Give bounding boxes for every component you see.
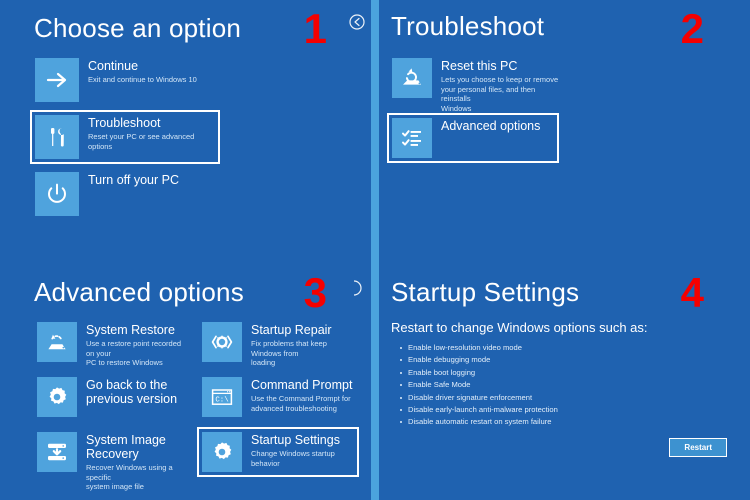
option-tile-go-back-previous-version[interactable]: Go back to the previous version bbox=[32, 372, 194, 422]
step-number-2: 2 bbox=[681, 8, 704, 50]
startup-repair-icon bbox=[202, 322, 242, 362]
power-icon bbox=[35, 172, 79, 216]
option-desc: Fix problems that keep Windows from load… bbox=[251, 339, 354, 368]
option-desc: Use a restore point recorded on your PC … bbox=[86, 339, 189, 368]
option-title: System Image Recovery bbox=[86, 433, 189, 461]
option-tile-startup-settings[interactable]: Startup Settings Change Windows startup … bbox=[197, 427, 359, 477]
option-desc: Change Windows startup behavior bbox=[251, 449, 354, 468]
page-title: Choose an option bbox=[34, 13, 241, 44]
panel-choose-an-option: 1 Choose an option Continue Exit and con… bbox=[0, 0, 371, 250]
list-item: Enable Safe Mode bbox=[399, 379, 558, 391]
screwdriver-wrench-icon bbox=[35, 115, 79, 159]
system-restore-icon bbox=[37, 322, 77, 362]
list-item: Enable debugging mode bbox=[399, 354, 558, 366]
system-image-recovery-icon bbox=[37, 432, 77, 472]
gear-icon bbox=[202, 432, 242, 472]
option-tile-turn-off-your-pc[interactable]: Turn off your PC bbox=[30, 167, 220, 221]
command-prompt-icon: C:\ bbox=[202, 377, 242, 417]
option-desc: Lets you choose to keep or remove your p… bbox=[441, 75, 562, 113]
option-title: Advanced options bbox=[441, 119, 540, 133]
recovery-screens-collage: 1 Choose an option Continue Exit and con… bbox=[0, 0, 750, 500]
list-item: Disable early-launch anti-malware protec… bbox=[399, 404, 558, 416]
step-number-1: 1 bbox=[304, 8, 327, 50]
svg-text:C:\: C:\ bbox=[215, 397, 229, 405]
option-title: Command Prompt bbox=[251, 378, 352, 392]
option-desc: Recover Windows using a specific system … bbox=[86, 463, 189, 492]
checklist-icon bbox=[392, 118, 432, 158]
option-tile-system-image-recovery[interactable]: System Image Recovery Recover Windows us… bbox=[32, 427, 194, 497]
option-desc: Reset your PC or see advanced options bbox=[88, 132, 215, 151]
list-item: Enable low-resolution video mode bbox=[399, 342, 558, 354]
startup-options-list: Enable low-resolution video mode Enable … bbox=[399, 342, 558, 429]
step-number-4: 4 bbox=[681, 272, 704, 314]
option-tile-troubleshoot[interactable]: Troubleshoot Reset your PC or see advanc… bbox=[30, 110, 220, 164]
startup-settings-subhead: Restart to change Windows options such a… bbox=[391, 320, 648, 335]
option-tile-advanced-options[interactable]: Advanced options bbox=[387, 113, 559, 163]
option-tile-reset-this-pc[interactable]: Reset this PC Lets you choose to keep or… bbox=[387, 53, 567, 118]
back-arrow-circle-icon[interactable] bbox=[349, 14, 365, 30]
option-title: Startup Settings bbox=[251, 433, 354, 447]
option-title: Reset this PC bbox=[441, 59, 562, 73]
panel-advanced-options: 3 Advanced options Syst bbox=[0, 250, 371, 500]
option-title: Go back to the previous version bbox=[86, 378, 177, 406]
option-tile-continue[interactable]: Continue Exit and continue to Windows 10 bbox=[30, 53, 220, 107]
page-title: Startup Settings bbox=[391, 277, 579, 308]
page-title: Troubleshoot bbox=[391, 11, 544, 42]
panel-troubleshoot: 2 Troubleshoot Reset this PC Lets you ch… bbox=[379, 0, 750, 250]
pc-refresh-icon bbox=[392, 58, 432, 98]
list-item: Disable automatic restart on system fail… bbox=[399, 416, 558, 428]
option-title: Troubleshoot bbox=[88, 116, 215, 130]
restart-button[interactable]: Restart bbox=[669, 438, 727, 457]
option-desc: Exit and continue to Windows 10 bbox=[88, 75, 197, 85]
option-desc: Use the Command Prompt for advanced trou… bbox=[251, 394, 352, 413]
back-arrow-circle-icon[interactable] bbox=[353, 280, 369, 296]
option-title: System Restore bbox=[86, 323, 189, 337]
option-title: Turn off your PC bbox=[88, 173, 179, 187]
option-title: Continue bbox=[88, 59, 197, 73]
option-tile-system-restore[interactable]: System Restore Use a restore point recor… bbox=[32, 317, 194, 373]
page-title: Advanced options bbox=[34, 277, 244, 308]
option-title: Startup Repair bbox=[251, 323, 354, 337]
panel-startup-settings: 4 Startup Settings Restart to change Win… bbox=[379, 250, 750, 500]
list-item: Disable driver signature enforcement bbox=[399, 392, 558, 404]
list-item: Enable boot logging bbox=[399, 367, 558, 379]
arrow-right-icon bbox=[35, 58, 79, 102]
option-tile-startup-repair[interactable]: Startup Repair Fix problems that keep Wi… bbox=[197, 317, 359, 373]
step-number-3: 3 bbox=[304, 272, 327, 314]
option-tile-command-prompt[interactable]: C:\ Command Prompt Use the Command Promp… bbox=[197, 372, 359, 422]
gear-icon bbox=[37, 377, 77, 417]
